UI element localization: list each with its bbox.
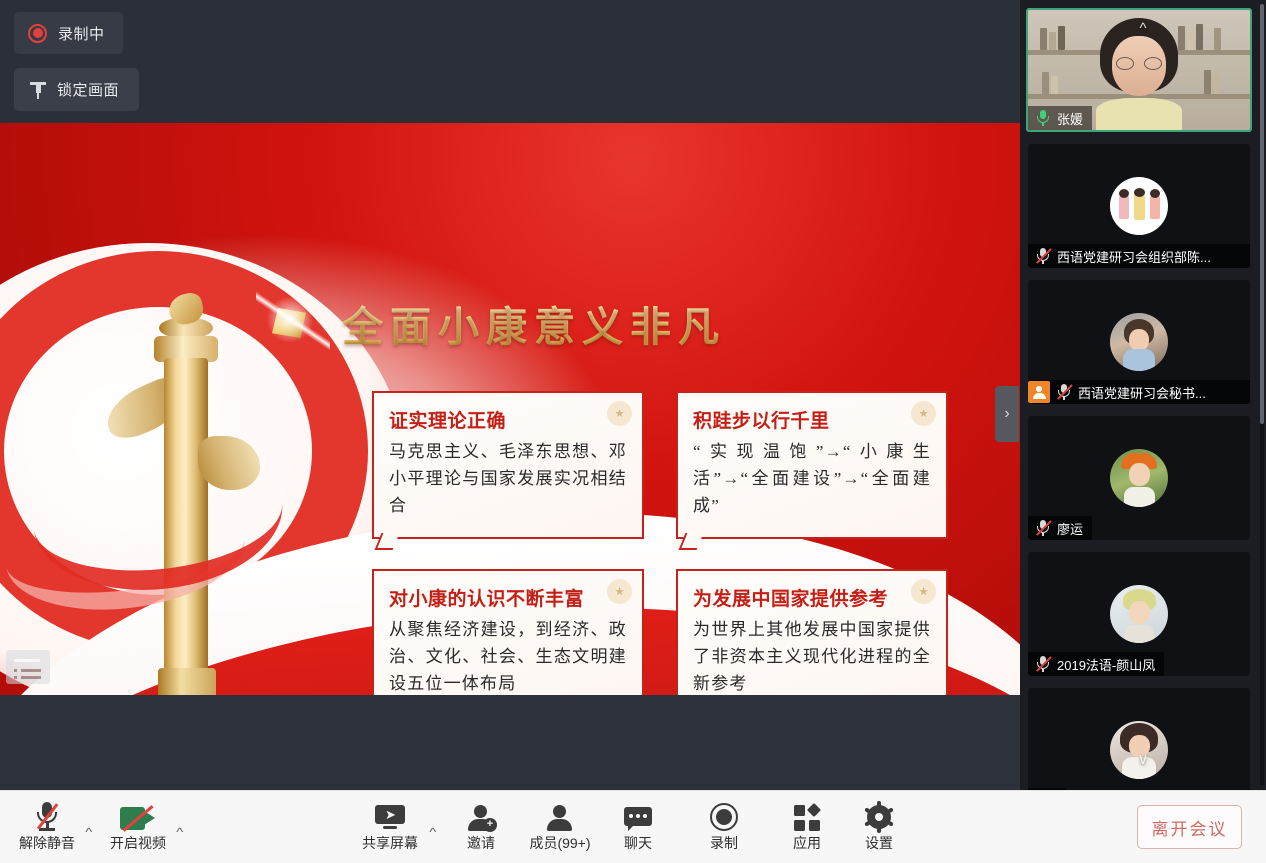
toolbar-mute-button[interactable]: 解除静音	[12, 799, 82, 857]
stage-top-bar: 录制中 锁定画面	[0, 0, 1020, 123]
avatar	[1110, 585, 1168, 643]
participant-tile[interactable]: 廖运	[1028, 416, 1250, 540]
scroll-up-chevron-icon[interactable]: ^	[1139, 20, 1146, 37]
avatar	[1110, 313, 1168, 371]
chevron-right-icon: ›	[1004, 405, 1009, 423]
toolbar-share-screen-button[interactable]: ➤ 共享屏幕	[352, 799, 428, 857]
recording-indicator[interactable]: 录制中	[14, 12, 123, 54]
toolbar-settings-label: 设置	[865, 833, 893, 853]
scrollbar-thumb[interactable]	[1260, 4, 1264, 424]
participant-name: 西语党建研习会组织部陈...	[1057, 247, 1211, 266]
video-options-chevron-icon[interactable]: ^	[176, 825, 183, 839]
mute-options-chevron-icon[interactable]: ^	[85, 825, 92, 839]
participant-rail[interactable]: 张媛 西语党建研习会组织部陈...	[1020, 0, 1266, 790]
participant-tile[interactable]: 西语党建研习会组织部陈...	[1028, 144, 1250, 268]
collapse-panel-button[interactable]: ›	[995, 386, 1019, 442]
participant-name-bar: 西语党建研习会秘书...	[1028, 380, 1250, 404]
participant-name: 2019法语-颜山凤	[1057, 655, 1155, 674]
toolbar-participants-label: 成员(99+)	[529, 833, 590, 853]
slide-card: ★ 对小康的认识不断丰富 从聚焦经济建设，到经济、政治、文化、社会、生态文明建设…	[372, 569, 644, 695]
recording-label: 录制中	[58, 23, 105, 44]
lock-screen-button[interactable]: 锁定画面	[14, 68, 139, 111]
card-heading: 证实理论正确	[389, 406, 627, 433]
mic-on-icon	[1035, 110, 1051, 127]
slide-title: 全面小康意义非凡	[342, 293, 726, 353]
annotation-toolbar-ghost[interactable]	[6, 650, 50, 684]
toolbar-record-label: 录制	[710, 833, 738, 853]
participant-list: 张媛 西语党建研习会组织部陈...	[1020, 0, 1266, 790]
mic-muted-icon	[1035, 248, 1051, 265]
toolbar-settings-button[interactable]: 设置	[852, 799, 906, 857]
toolbar-video-button[interactable]: 开启视频	[102, 799, 174, 857]
record-dot-icon	[28, 24, 47, 43]
avatar	[1110, 177, 1168, 235]
toolbar-mute-label: 解除静音	[19, 833, 75, 853]
participant-name-bar: 张媛	[1028, 106, 1092, 130]
slide-title-row: 全面小康意义非凡	[262, 283, 732, 363]
card-body: 为世界上其他发展中国家提供了非资本主义现代化进程的全新参考	[693, 617, 931, 695]
host-badge-icon	[1028, 381, 1050, 403]
participant-name-bar: 廖运	[1028, 516, 1092, 540]
slide-card: ★ 积跬步以行千里 “实现温饱”→“小康生活”→“全面建设”→“全面建成”	[676, 391, 948, 539]
participant-name-bar: 2019法语-颜山凤	[1028, 652, 1164, 676]
toolbar-record-button[interactable]: 录制	[696, 799, 752, 857]
toolbar-apps-label: 应用	[793, 833, 821, 853]
pin-icon	[30, 81, 46, 99]
stage-bottom-filler	[0, 695, 1020, 790]
leave-meeting-label: 离开会议	[1152, 815, 1228, 840]
mic-muted-icon	[34, 799, 60, 831]
card-body: 马克思主义、毛泽东思想、邓小平理论与国家发展实况相结合	[389, 439, 627, 520]
card-body: “实现温饱”→“小康生活”→“全面建设”→“全面建成”	[693, 439, 931, 520]
card-watermark-icon: ★	[911, 401, 936, 426]
slide-card: ★ 证实理论正确 马克思主义、毛泽东思想、邓小平理论与国家发展实况相结合	[372, 391, 644, 539]
participant-name: 西语党建研习会秘书...	[1078, 383, 1206, 402]
card-heading: 为发展中国家提供参考	[693, 584, 931, 611]
invite-icon: +	[467, 799, 495, 831]
card-heading: 对小康的认识不断丰富	[389, 584, 627, 611]
leave-meeting-button[interactable]: 离开会议	[1137, 805, 1242, 849]
scroll-down-chevron-icon[interactable]: ∨	[1138, 750, 1149, 768]
toolbar-invite-button[interactable]: + 邀请	[452, 799, 510, 857]
toolbar-invite-label: 邀请	[467, 833, 495, 853]
share-screen-icon: ➤	[375, 799, 405, 831]
participant-tile[interactable]: 2019法语-颜山凤	[1028, 552, 1250, 676]
mic-muted-icon	[1035, 656, 1051, 673]
card-watermark-icon: ★	[607, 579, 632, 604]
participant-name-bar: 西语党建研习会组织部陈...	[1028, 244, 1250, 268]
participant-tile[interactable]: 西语党建研习会秘书...	[1028, 280, 1250, 404]
video-off-icon	[120, 799, 156, 831]
card-watermark-icon: ★	[911, 579, 936, 604]
card-body: 从聚焦经济建设，到经济、政治、文化、社会、生态文明建设五位一体布局	[389, 617, 627, 695]
mic-muted-icon	[1056, 384, 1072, 401]
lock-screen-label: 锁定画面	[57, 79, 119, 100]
participants-icon	[546, 799, 574, 831]
toolbar-share-label: 共享屏幕	[362, 833, 418, 853]
participant-scrollbar[interactable]	[1260, 4, 1264, 786]
huabiao-pillar-graphic	[120, 288, 252, 695]
toolbar-video-label: 开启视频	[110, 833, 166, 853]
shared-screen-stage: 录制中 锁定画面	[0, 0, 1020, 790]
apps-icon	[794, 799, 821, 831]
gold-spark-icon	[262, 294, 320, 352]
card-watermark-icon: ★	[607, 401, 632, 426]
toolbar-chat-label: 聊天	[624, 833, 652, 853]
meeting-toolbar: 解除静音 ^ 开启视频 ^ ➤ 共享屏幕 ^ + 邀请 成员	[0, 790, 1266, 863]
toolbar-apps-button[interactable]: 应用	[780, 799, 834, 857]
avatar	[1110, 449, 1168, 507]
participant-name: 廖运	[1057, 519, 1083, 538]
participant-name: 张媛	[1057, 109, 1083, 128]
slide-card: ★ 为发展中国家提供参考 为世界上其他发展中国家提供了非资本主义现代化进程的全新…	[676, 569, 948, 695]
slide-cards: ★ 证实理论正确 马克思主义、毛泽东思想、邓小平理论与国家发展实况相结合 ★ 积…	[372, 391, 952, 695]
mic-muted-icon	[1035, 520, 1051, 537]
share-options-chevron-icon[interactable]: ^	[429, 825, 436, 839]
settings-icon	[865, 799, 893, 831]
card-heading: 积跬步以行千里	[693, 406, 931, 433]
chat-icon	[624, 799, 652, 831]
record-icon	[710, 799, 738, 831]
toolbar-chat-button[interactable]: 聊天	[612, 799, 664, 857]
presentation-slide: 全面小康意义非凡 ★ 证实理论正确 马克思主义、毛泽东思想、邓小平理论与国家发展…	[0, 123, 1020, 695]
meeting-window: 录制中 锁定画面	[0, 0, 1266, 863]
toolbar-participants-button[interactable]: 成员(99+)	[518, 799, 602, 857]
